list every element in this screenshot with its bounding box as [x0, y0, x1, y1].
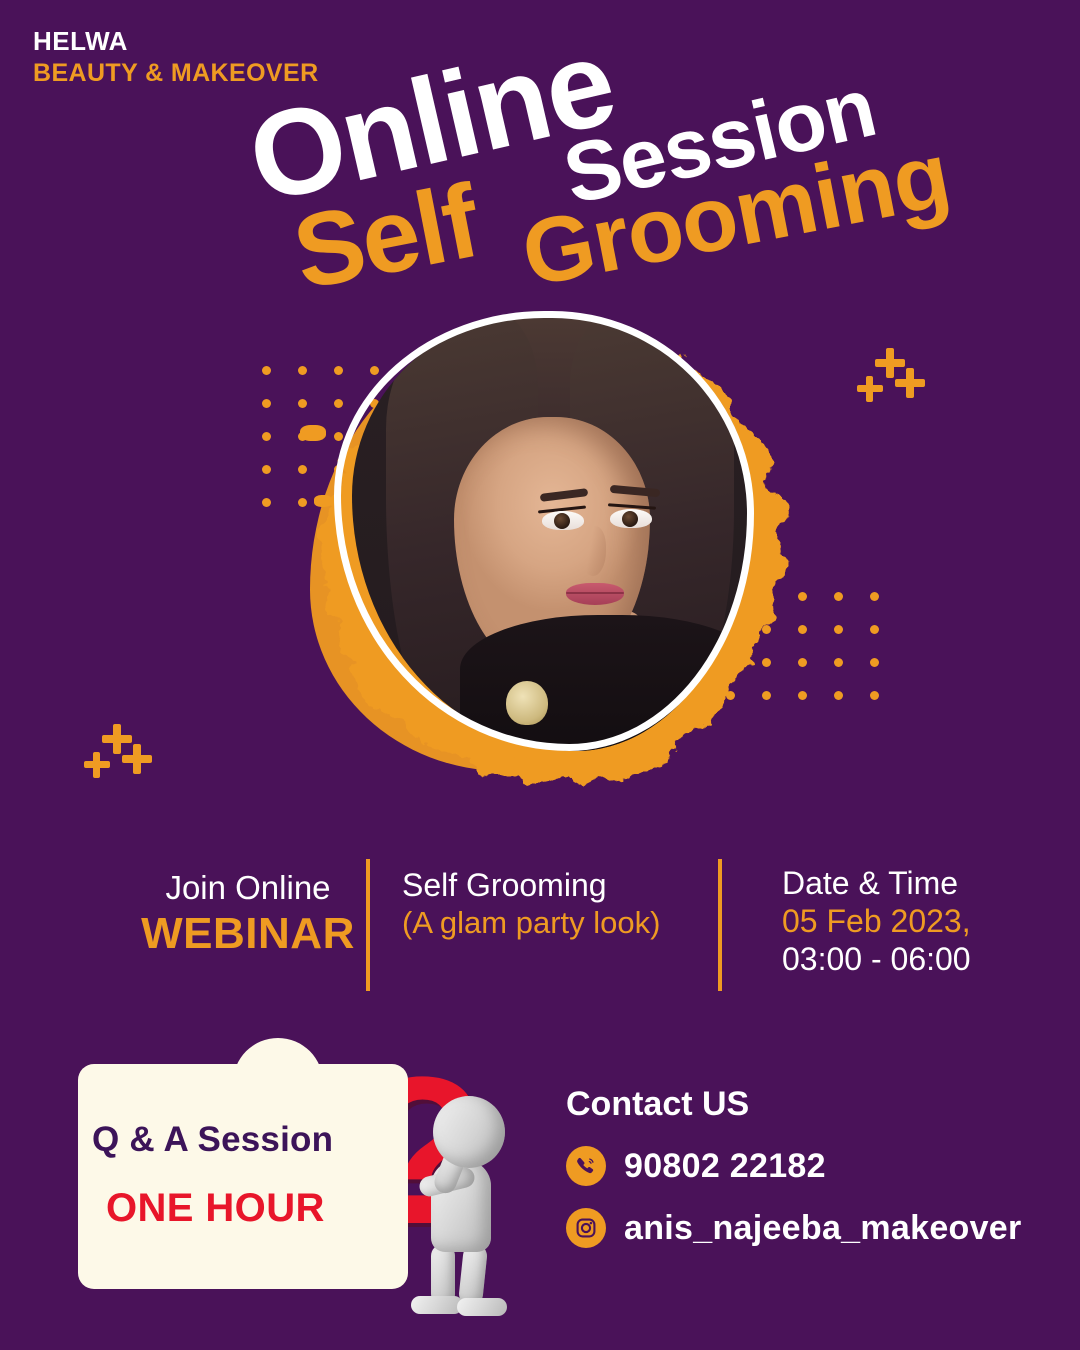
- qa-block: ? Q & A Session ONE HOUR: [70, 1034, 500, 1304]
- info-date-value: 05 Feb 2023,: [782, 903, 1032, 941]
- contact-phone-row[interactable]: 90802 22182: [566, 1146, 1036, 1186]
- info-webinar-bottom: WEBINAR: [128, 908, 368, 960]
- contact-phone-number: 90802 22182: [624, 1147, 826, 1186]
- qa-session-label: Q & A Session: [92, 1120, 392, 1160]
- poster-root: HELWA BEAUTY & MAKEOVER Online Session S…: [0, 0, 1080, 1350]
- thinking-person-icon: [395, 1096, 515, 1311]
- info-time-value: 03:00 - 06:00: [782, 941, 1032, 979]
- info-divider-2: [718, 859, 722, 991]
- contact-block: Contact US 90802 22182 anis_najeeba_make…: [566, 1085, 1036, 1270]
- qa-card: [78, 1064, 408, 1289]
- info-divider-1: [366, 859, 370, 991]
- qa-duration-label: ONE HOUR: [106, 1186, 396, 1231]
- sparkle-cluster-bottom-left-icon: [84, 724, 164, 794]
- sparkle-cluster-top-right-icon: [857, 348, 937, 418]
- contact-title: Contact US: [566, 1085, 1036, 1124]
- phone-icon: [566, 1146, 606, 1186]
- info-column-datetime: Date & Time 05 Feb 2023, 03:00 - 06:00: [782, 865, 1032, 978]
- info-column-topic: Self Grooming (A glam party look): [402, 867, 702, 941]
- info-topic-title: Self Grooming: [402, 867, 702, 905]
- contact-instagram-row[interactable]: anis_najeeba_makeover: [566, 1208, 1036, 1248]
- info-datetime-label: Date & Time: [782, 865, 1032, 903]
- instagram-icon: [566, 1208, 606, 1248]
- portrait-photo: [352, 311, 752, 751]
- info-webinar-top: Join Online: [128, 869, 368, 908]
- info-bar: Join Online WEBINAR Self Grooming (A gla…: [0, 855, 1080, 1005]
- info-column-webinar: Join Online WEBINAR: [128, 869, 368, 960]
- portrait-block: [300, 305, 800, 805]
- info-topic-subtitle: (A glam party look): [402, 905, 702, 942]
- contact-instagram-handle: anis_najeeba_makeover: [624, 1209, 1022, 1248]
- headline-block: Online Session Self Grooming: [0, 0, 1080, 320]
